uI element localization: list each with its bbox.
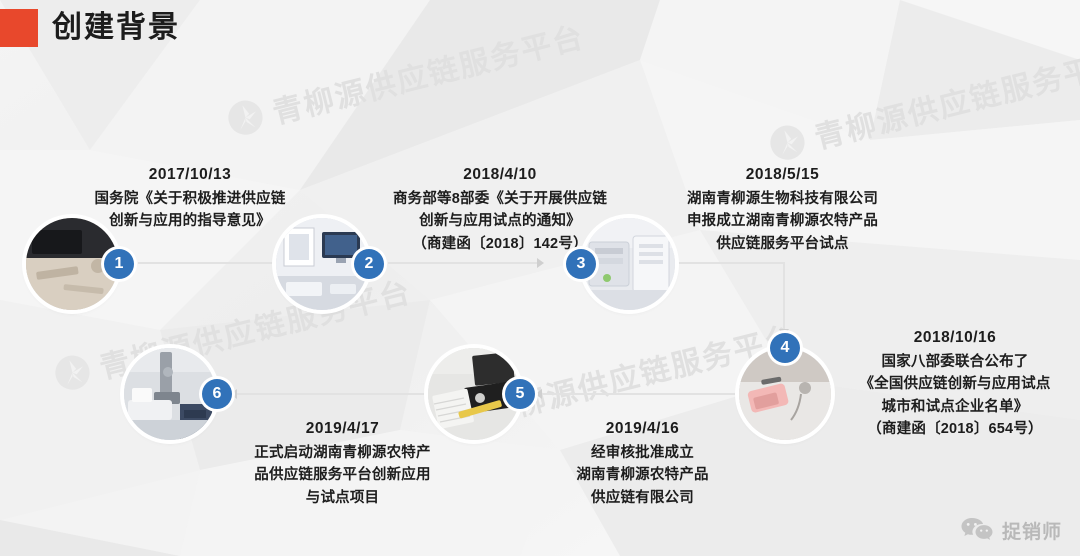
title-accent-square xyxy=(0,9,38,47)
step-6-line-3: 与试点项目 xyxy=(230,487,455,509)
wechat-account-name: 捉销师 xyxy=(1002,517,1062,544)
step-4-date: 2018/10/16 xyxy=(830,326,1080,350)
step-1-date: 2017/10/13 xyxy=(60,163,320,187)
page-title: 创建背景 xyxy=(52,9,180,47)
lab-equipment-photo xyxy=(583,218,675,310)
step-5-line-2: 湖南青柳源农特产品 xyxy=(530,464,755,486)
step-2-badge[interactable]: 2 xyxy=(354,249,384,279)
wechat-icon xyxy=(960,516,994,544)
step-4-caption: 2018/10/16 国家八部委联合公布了 《全国供应链创新与应用试点 城市和试… xyxy=(830,326,1080,441)
step-2-date: 2018/4/10 xyxy=(355,163,645,187)
step-3-line-2: 申报成立湖南青柳源农特产品 xyxy=(645,210,920,232)
step-5-caption: 2019/4/16 经审核批准成立 湖南青柳源农特产品 供应链有限公司 xyxy=(530,417,755,509)
step-1-line-1: 国务院《关于积极推进供应链 xyxy=(60,188,320,210)
step-4-line-1: 国家八部委联合公布了 xyxy=(830,351,1080,373)
step-5-date: 2019/4/16 xyxy=(530,417,755,441)
step-3-photo[interactable] xyxy=(583,218,675,310)
pinwheel-logo-icon xyxy=(51,351,95,395)
step-6-caption: 2019/4/17 正式启动湖南青柳源农特产 品供应链服务平台创新应用 与试点项… xyxy=(230,417,455,509)
step-6-line-1: 正式启动湖南青柳源农特产 xyxy=(230,442,455,464)
step-5-line-1: 经审核批准成立 xyxy=(530,442,755,464)
connector-4-to-5 xyxy=(540,393,735,395)
step-3-badge[interactable]: 3 xyxy=(566,249,596,279)
step-3-line-3: 供应链服务平台试点 xyxy=(645,233,920,255)
step-6-line-2: 品供应链服务平台创新应用 xyxy=(230,464,455,486)
step-2-line-1: 商务部等8部委《关于开展供应链 xyxy=(355,188,645,210)
connector-2-to-3 xyxy=(388,262,540,264)
step-4-line-3: 城市和试点企业名单》 xyxy=(830,396,1080,418)
step-1-caption: 2017/10/13 国务院《关于积极推进供应链 创新与应用的指导意见》 xyxy=(60,163,320,233)
step-5-badge[interactable]: 5 xyxy=(505,379,535,409)
step-1-badge[interactable]: 1 xyxy=(104,249,134,279)
step-5-line-3: 供应链有限公司 xyxy=(530,487,755,509)
step-4-line-4: （商建函〔2018〕654号） xyxy=(830,418,1080,440)
step-4-line-2: 《全国供应链创新与应用试点 xyxy=(830,373,1080,395)
step-3-date: 2018/5/15 xyxy=(645,163,920,187)
arrow-head-icon xyxy=(535,389,542,399)
step-6-date: 2019/4/17 xyxy=(230,417,455,441)
pinwheel-logo-icon xyxy=(766,121,810,165)
step-4-badge[interactable]: 4 xyxy=(770,333,800,363)
connector-3-to-4-vertical xyxy=(783,262,785,332)
step-3-caption: 2018/5/15 湖南青柳源生物科技有限公司 申报成立湖南青柳源农特产品 供应… xyxy=(645,163,920,255)
slide-canvas: 青柳源供应链服务平台 青柳源供应链服务平台 青柳源供应链服务平台 xyxy=(0,0,1080,556)
step-3-line-1: 湖南青柳源生物科技有限公司 xyxy=(645,188,920,210)
connector-3-to-4-horizontal xyxy=(660,262,784,264)
arrow-head-icon xyxy=(537,258,544,268)
wechat-account-mark: 捉销师 xyxy=(960,516,1062,544)
pinwheel-logo-icon xyxy=(224,96,268,140)
page-header: 创建背景 xyxy=(0,0,1080,60)
connector-1-to-2 xyxy=(138,262,280,264)
step-6-badge[interactable]: 6 xyxy=(202,379,232,409)
